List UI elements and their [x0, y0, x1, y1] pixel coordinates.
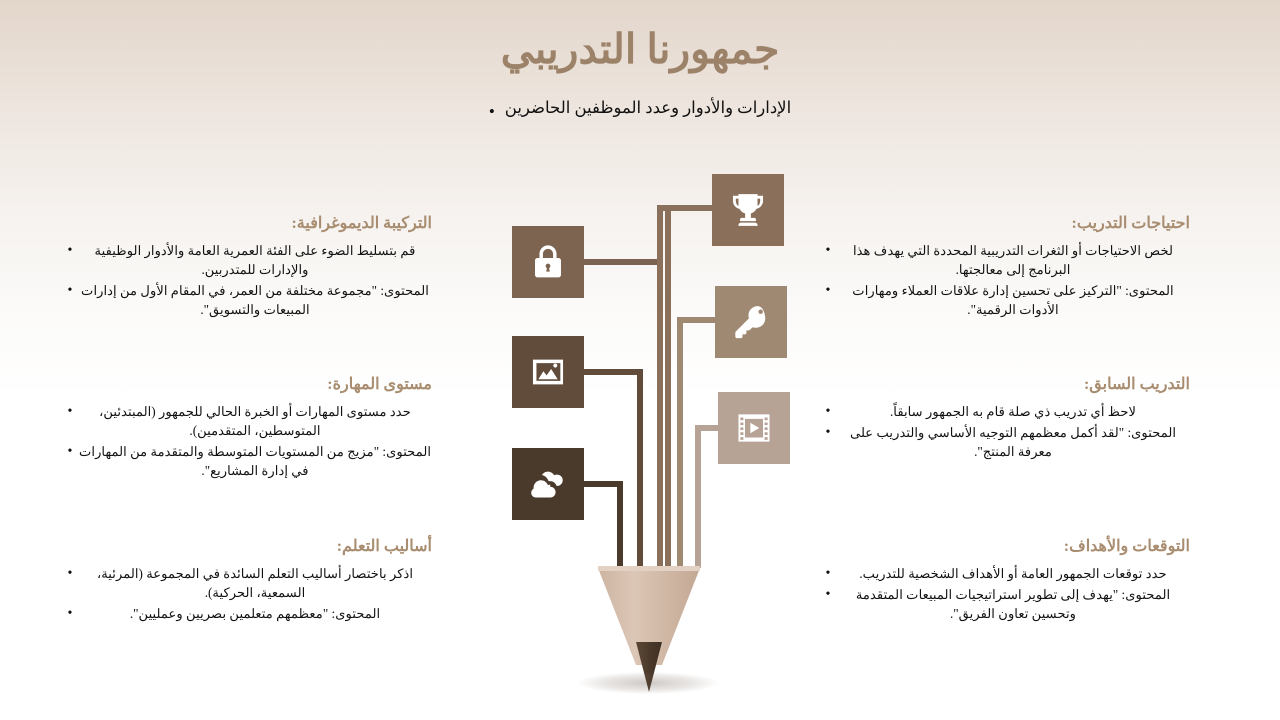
list-item: • المحتوى: "التركيز على تحسين إدارة علاق…	[820, 281, 1190, 319]
bullet-icon: •	[820, 402, 836, 421]
video-icon-box[interactable]	[718, 392, 790, 464]
list-item: • المحتوى: "مجموعة مختلفة من العمر، في ا…	[62, 281, 432, 319]
trophy-icon	[729, 191, 767, 229]
image-icon-box[interactable]	[512, 336, 584, 408]
block-bullet-list: • لخص الاحتياجات أو الثغرات التدريبية ال…	[820, 241, 1190, 319]
connector-cloud	[584, 484, 620, 568]
list-item: • لخص الاحتياجات أو الثغرات التدريبية ال…	[820, 241, 1190, 279]
key-icon-box[interactable]	[715, 286, 787, 358]
bullet-text: حدد مستوى المهارات أو الخبرة الحالي للجم…	[78, 402, 432, 440]
pencil-collar	[598, 566, 700, 571]
bullet-text: المحتوى: "التركيز على تحسين إدارة علاقات…	[836, 281, 1190, 319]
block-bullet-list: • حدد مستوى المهارات أو الخبرة الحالي لل…	[62, 402, 432, 480]
block-heading: التدريب السابق:	[820, 375, 1190, 395]
bullet-text: المحتوى: "معظمهم متعلمين بصريين وعمليين"…	[78, 604, 432, 623]
bullet-text: قم بتسليط الضوء على الفئة العمرية العامة…	[78, 241, 432, 279]
block-bullet-list: • حدد توقعات الجمهور العامة أو الأهداف ا…	[820, 564, 1190, 623]
pencil-body	[598, 568, 700, 665]
bullet-text: المحتوى: "لقد أكمل معظمهم التوجيه الأساس…	[836, 423, 1190, 461]
bullet-text: حدد توقعات الجمهور العامة أو الأهداف الش…	[836, 564, 1190, 583]
list-item: • لاحظ أي تدريب ذي صلة قام به الجمهور سا…	[820, 402, 1190, 421]
block-training-needs: احتياجات التدريب: • لخص الاحتياجات أو ال…	[820, 214, 1190, 321]
list-item: • المحتوى: "يهدف إلى تطوير استراتيجيات ا…	[820, 585, 1190, 623]
block-learning-styles: أساليب التعلم: • اذكر باختصار أساليب الت…	[62, 537, 432, 625]
block-skill-level: مستوى المهارة: • حدد مستوى المهارات أو ا…	[62, 375, 432, 482]
page-title: جمهورنا التدريبي	[0, 26, 1280, 73]
block-bullet-list: • قم بتسليط الضوء على الفئة العمرية العا…	[62, 241, 432, 319]
bullet-text: لخص الاحتياجات أو الثغرات التدريبية المح…	[836, 241, 1190, 279]
bullet-icon: •	[62, 402, 78, 421]
block-bullet-list: • لاحظ أي تدريب ذي صلة قام به الجمهور سا…	[820, 402, 1190, 461]
trophy-icon-box[interactable]	[712, 174, 784, 246]
lock-icon	[529, 243, 567, 281]
bullet-text: اذكر باختصار أساليب التعلم السائدة في ال…	[78, 564, 432, 602]
subtitle-row: • الإدارات والأدوار وعدد الموظفين الحاضر…	[0, 98, 1280, 120]
connector-trophy	[660, 208, 712, 568]
image-icon	[529, 353, 567, 391]
cloud-icon	[529, 465, 567, 503]
block-previous-training: التدريب السابق: • لاحظ أي تدريب ذي صلة ق…	[820, 375, 1190, 463]
connector-key	[680, 320, 715, 568]
connector-lock	[584, 262, 660, 568]
connector-trophy-stem	[668, 208, 712, 568]
block-heading: أساليب التعلم:	[62, 537, 432, 557]
bullet-icon: •	[62, 604, 78, 623]
lock-icon-box[interactable]	[512, 226, 584, 298]
block-heading: التوقعات والأهداف:	[820, 537, 1190, 557]
bullet-icon: •	[62, 281, 78, 300]
list-item: • المحتوى: "معظمهم متعلمين بصريين وعمليي…	[62, 604, 432, 623]
block-heading: احتياجات التدريب:	[820, 214, 1190, 234]
list-item: • قم بتسليط الضوء على الفئة العمرية العا…	[62, 241, 432, 279]
block-expectations-goals: التوقعات والأهداف: • حدد توقعات الجمهور …	[820, 537, 1190, 625]
bullet-icon: •	[820, 281, 836, 300]
bullet-text: المحتوى: "مجموعة مختلفة من العمر، في الم…	[78, 281, 432, 319]
bullet-icon: •	[62, 241, 78, 260]
bullet-icon: •	[820, 241, 836, 260]
bullet-icon: •	[62, 564, 78, 583]
subtitle-bullet-icon: •	[489, 103, 495, 120]
block-heading: التركيبة الديموغرافية:	[62, 214, 432, 234]
list-item: • المحتوى: "لقد أكمل معظمهم التوجيه الأس…	[820, 423, 1190, 461]
key-icon	[732, 303, 770, 341]
bullet-icon: •	[820, 585, 836, 604]
bullet-text: المحتوى: "يهدف إلى تطوير استراتيجيات الم…	[836, 585, 1190, 623]
list-item: • حدد مستوى المهارات أو الخبرة الحالي لل…	[62, 402, 432, 440]
connector-video	[698, 428, 718, 568]
list-item: • اذكر باختصار أساليب التعلم السائدة في …	[62, 564, 432, 602]
bullet-icon: •	[820, 423, 836, 442]
slide-canvas: جمهورنا التدريبي • الإدارات والأدوار وعد…	[0, 0, 1280, 720]
bullet-text: المحتوى: "مزيج من المستويات المتوسطة وال…	[78, 442, 432, 480]
block-bullet-list: • اذكر باختصار أساليب التعلم السائدة في …	[62, 564, 432, 623]
subtitle-text: الإدارات والأدوار وعدد الموظفين الحاضرين	[505, 98, 791, 118]
list-item: • حدد توقعات الجمهور العامة أو الأهداف ا…	[820, 564, 1190, 583]
list-item: • المحتوى: "مزيج من المستويات المتوسطة و…	[62, 442, 432, 480]
pencil-shadow	[578, 672, 718, 694]
connector-image	[584, 372, 640, 568]
video-icon	[735, 409, 773, 447]
bullet-text: لاحظ أي تدريب ذي صلة قام به الجمهور سابق…	[836, 402, 1190, 421]
block-demographics: التركيبة الديموغرافية: • قم بتسليط الضوء…	[62, 214, 432, 321]
pencil-tip	[636, 642, 662, 692]
block-heading: مستوى المهارة:	[62, 375, 432, 395]
cloud-icon-box[interactable]	[512, 448, 584, 520]
bullet-icon: •	[62, 442, 78, 461]
bullet-icon: •	[820, 564, 836, 583]
